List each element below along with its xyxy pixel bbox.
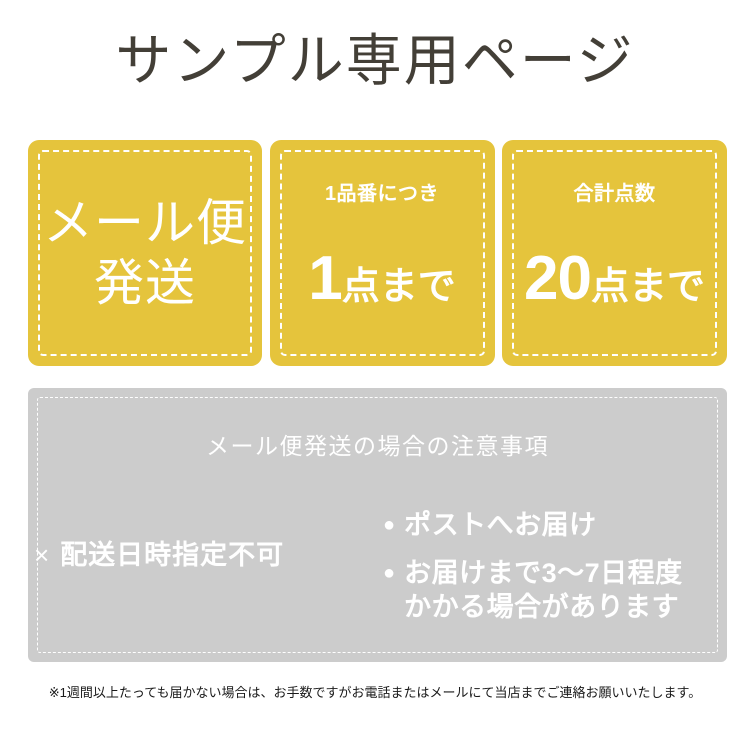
card-per-item-limit-heading: 1品番につき: [325, 182, 439, 206]
notice-bullet-item: ● ポストへお届け: [383, 508, 713, 542]
notice-bullet-list: ● ポストへお届け ● お届けまで3〜7日程度 かかる場合があります: [383, 508, 713, 624]
notice-restriction-label: 配送日時指定不可: [60, 540, 284, 570]
bullet-dot-icon: ●: [383, 556, 395, 590]
card-per-item-limit-number: 1: [308, 248, 341, 310]
feature-card-row: メール便 発送 1品番につき 1 点まで 合計点数 20 点まで: [28, 140, 727, 366]
notice-bullet-text: ポストへお届け: [404, 508, 597, 542]
notice-bullet-text: お届けまで3〜7日程度 かかる場合があります: [404, 556, 683, 624]
card-total-limit-heading: 合計点数: [574, 182, 656, 206]
card-per-item-limit-value: 1 点まで: [308, 248, 456, 310]
card-total-limit-unit: 点まで: [591, 268, 705, 306]
notice-bullet-item: ● お届けまで3〜7日程度 かかる場合があります: [383, 556, 713, 624]
card-per-item-limit: 1品番につき 1 点まで: [270, 140, 495, 366]
page-title: サンプル専用ページ: [0, 28, 750, 94]
notice-restriction-item: ×配送日時指定不可: [34, 538, 374, 572]
bullet-dot-icon: ●: [383, 508, 395, 542]
card-shipping-method: メール便 発送: [28, 140, 262, 366]
sample-shipping-info-banner: サンプル専用ページ メール便 発送 1品番につき 1 点まで 合計点数 20 点…: [0, 0, 750, 750]
footer-note: ※1週間以上たっても届かない場合は、お手数ですがお電話またはメールにて当店までご…: [0, 684, 750, 702]
card-total-limit-value: 20 点まで: [524, 248, 705, 310]
card-shipping-method-label: メール便 発送: [43, 193, 247, 313]
cross-mark-icon: ×: [34, 540, 50, 570]
card-per-item-limit-unit: 点まで: [342, 268, 456, 306]
card-total-limit: 合計点数 20 点まで: [502, 140, 727, 366]
notice-panel-heading: メール便発送の場合の注意事項: [28, 432, 727, 460]
card-total-limit-number: 20: [524, 248, 591, 310]
